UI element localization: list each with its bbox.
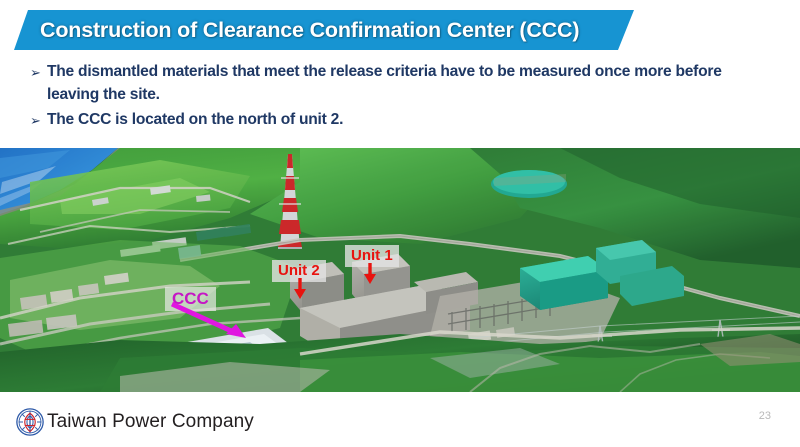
company-branding: Taiwan Power Company	[16, 408, 254, 436]
company-name: Taiwan Power Company	[47, 411, 254, 433]
bullet-list: ➢ The dismantled materials that meet the…	[30, 60, 782, 134]
slide-footer: Taiwan Power Company 23	[0, 392, 800, 447]
list-item: ➢ The dismantled materials that meet the…	[30, 60, 782, 106]
arrow-bullet-icon: ➢	[30, 60, 47, 84]
unit-2-arrow-icon	[292, 278, 308, 300]
slide: Construction of Clearance Confirmation C…	[0, 0, 800, 447]
bullet-text: The CCC is located on the north of unit …	[47, 108, 343, 131]
photo-artwork	[0, 148, 800, 392]
bullet-text: The dismantled materials that meet the r…	[47, 60, 777, 106]
ccc-arrow-icon	[168, 300, 254, 344]
page-title: Construction of Clearance Confirmation C…	[40, 18, 579, 43]
arrow-bullet-icon: ➢	[30, 108, 47, 132]
slide-title-banner: Construction of Clearance Confirmation C…	[14, 10, 634, 50]
taiwan-power-company-emblem-icon	[16, 408, 44, 436]
aerial-site-photograph	[0, 148, 800, 392]
unit-1-arrow-icon	[362, 263, 378, 285]
list-item: ➢ The CCC is located on the north of uni…	[30, 108, 782, 132]
page-number: 23	[759, 410, 771, 422]
